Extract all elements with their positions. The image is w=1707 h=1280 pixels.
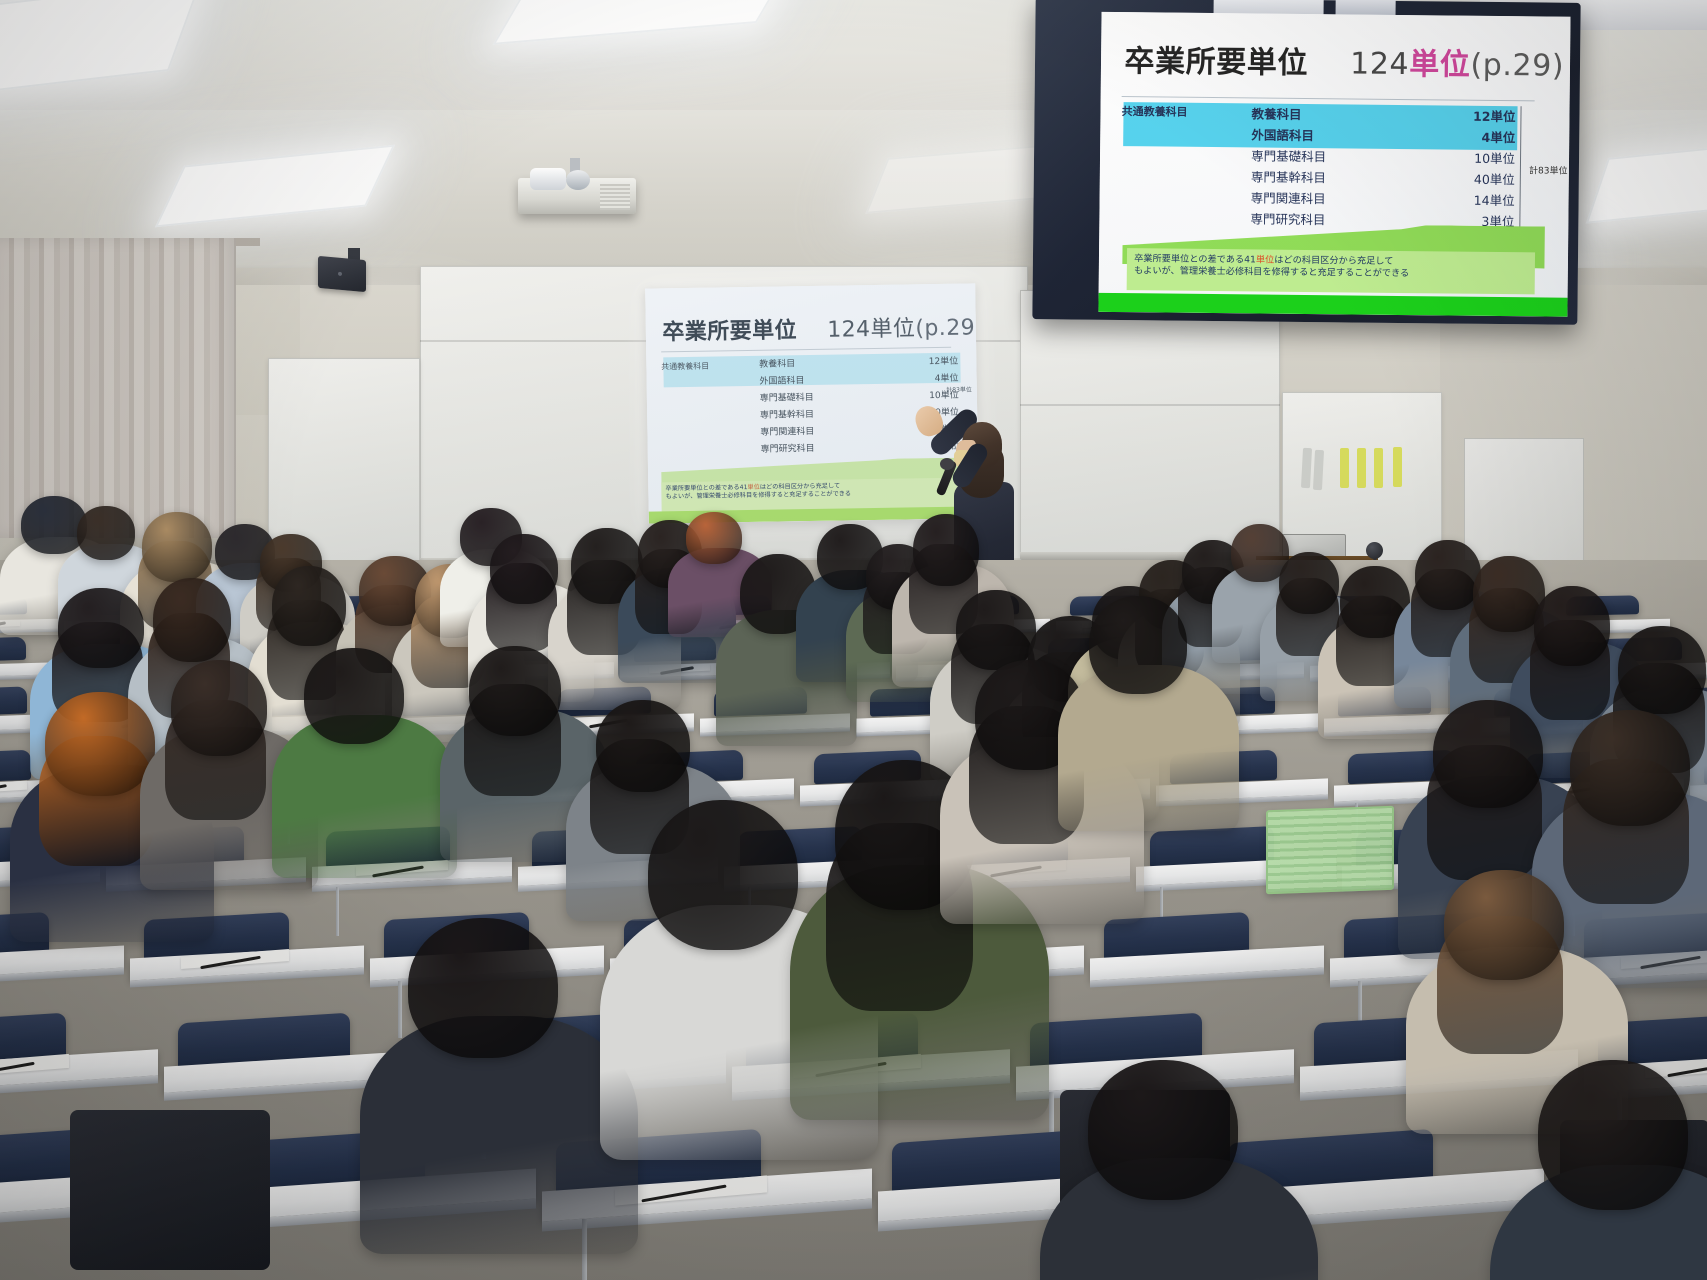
row-name: 外国語科目 <box>1251 128 1421 144</box>
lecture-chair[interactable] <box>0 637 26 662</box>
slide-title-number: 124 <box>1350 46 1409 82</box>
total-brace <box>1519 106 1521 241</box>
slide-title-main: 卒業所要単位 <box>1124 44 1308 81</box>
row-name: 専門基礎科目 <box>1251 149 1421 165</box>
projector-lens-secondary <box>566 170 590 190</box>
student-head <box>408 918 558 1058</box>
student-head <box>1433 700 1543 808</box>
projector-vent <box>600 184 630 210</box>
student-head <box>272 566 346 646</box>
whiteboard-marker-6[interactable] <box>1393 447 1402 487</box>
student <box>1490 1060 1707 1280</box>
projected-slide-table: 共通教養科目教養科目12単位 外国語科目4単位 専門基礎科目10単位 専門基幹科… <box>661 354 960 461</box>
slide-title-number: 124 <box>827 317 871 343</box>
note-box: 卒業所要単位との差である41単位はどの科目区分から充足して もよいが、管理栄養士… <box>1127 248 1535 294</box>
slide-title-page: (p.29) <box>1470 48 1564 84</box>
slide-title-unit: 単位 <box>1409 47 1471 83</box>
row-name: 専門研究科目 <box>1250 212 1420 228</box>
row-value: 40単位 <box>1420 172 1515 187</box>
ceiling-projector <box>518 168 636 214</box>
row-group <box>1121 176 1251 177</box>
student-head <box>596 700 690 792</box>
student <box>1058 596 1244 821</box>
whiteboard-right-seam <box>1020 404 1280 406</box>
student <box>1040 1060 1325 1280</box>
student-head <box>304 648 404 744</box>
slide-title-page: (p.29) <box>915 315 979 341</box>
whiteboard-right <box>1020 290 1280 560</box>
student-head <box>913 514 979 586</box>
student-head <box>469 646 561 736</box>
monitor-slide: 卒業所要単位 124単位(p.29) 共通教養科目 教養科目 12単位 外国語科… <box>1098 12 1570 317</box>
credit-table: 共通教養科目 教養科目 12単位 外国語科目 4単位 専門基礎科目 10単位 <box>1120 102 1515 232</box>
student-head <box>1088 1060 1238 1200</box>
row-name: 教養科目 <box>1252 107 1422 123</box>
row-value: 14単位 <box>1420 193 1515 208</box>
wall-mounted-display[interactable]: 卒業所要単位 124単位(p.29) 共通教養科目 教養科目 12単位 外国語科… <box>1032 0 1580 325</box>
student-backpack[interactable] <box>70 1110 270 1270</box>
whiteboard-marker-3[interactable] <box>1340 448 1349 488</box>
row-name: 専門基幹科目 <box>1251 170 1421 186</box>
row-group: 共通教養科目 <box>1122 107 1252 120</box>
desk-leg <box>336 887 339 936</box>
total-credits-label: 計83単位 <box>1529 163 1568 176</box>
lecture-hall-photo: 卒業所要単位 124単位(p.29) 共通教養科目教養科目12単位 外国語科目4… <box>0 0 1707 1280</box>
row-value: 12単位 <box>1421 109 1516 124</box>
display-screen: 卒業所要単位 124単位(p.29) 共通教養科目 教養科目 12単位 外国語科… <box>1098 12 1570 317</box>
student-head <box>1570 710 1690 826</box>
student-head <box>171 660 267 756</box>
student-head <box>153 578 231 662</box>
green-plastic-basket[interactable] <box>1266 806 1394 894</box>
student-head <box>648 800 798 950</box>
window-curtain <box>0 238 236 538</box>
projector-lens <box>530 168 566 190</box>
row-value: 4単位 <box>1421 130 1516 145</box>
slide-title: 卒業所要単位 124単位(p.29) <box>1124 36 1556 85</box>
slide-title-main: 卒業所要単位 <box>662 318 797 345</box>
student-head <box>1089 596 1187 694</box>
student-head <box>1618 626 1706 714</box>
row-name: 専門関連科目 <box>1251 191 1421 207</box>
student-head <box>1444 870 1564 980</box>
whiteboard-marker-4[interactable] <box>1357 448 1366 488</box>
row-value: 10単位 <box>1420 151 1515 166</box>
projected-slide-title: 卒業所要単位 124単位(p.29) <box>662 309 966 346</box>
student-head <box>45 692 155 796</box>
microphone-head <box>940 458 954 470</box>
student <box>272 648 462 869</box>
projected-slide-total: 計83単位 <box>946 385 972 394</box>
wall-speaker <box>318 256 366 292</box>
slide-title-unit: 単位 <box>870 316 915 342</box>
whiteboard-marker-5[interactable] <box>1374 448 1383 488</box>
student-head <box>1538 1060 1688 1210</box>
